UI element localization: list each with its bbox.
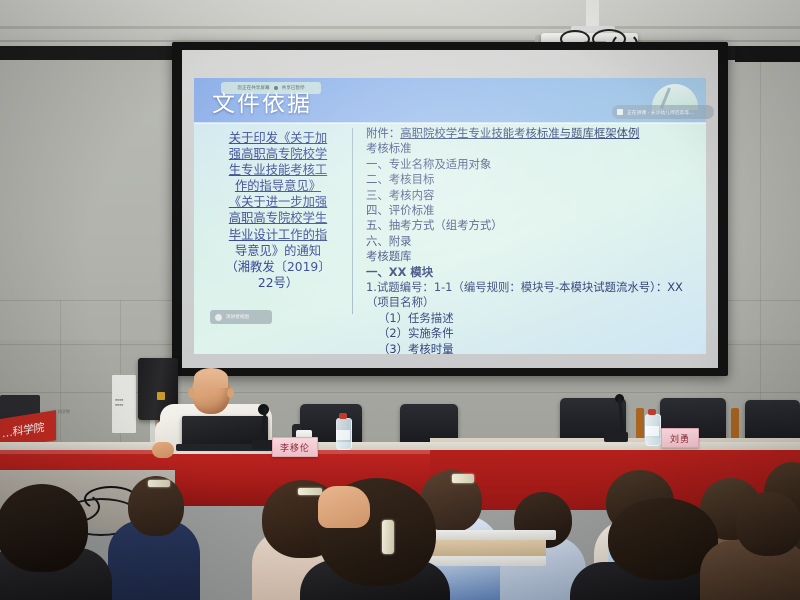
- slide-attachment-line: 附件：高职院校学生专业技能考核标准与题库框架体例: [366, 126, 696, 141]
- slide-left-line: 强高职高专院校学: [210, 146, 346, 162]
- bottle-label: [336, 430, 350, 440]
- slide-right-line: 考核题库: [366, 249, 696, 264]
- audience-head: [0, 484, 88, 572]
- chair-armrest: [636, 408, 644, 442]
- slide-item-line: 1.试题编号：1-1（编号规则：模块号-本模块试题流水号）：XX（项目名称）: [366, 280, 696, 311]
- hair-clip: [382, 520, 394, 554]
- slide-right-line: 六、附录: [366, 234, 696, 249]
- slide-left-line: 导意见》的通知: [210, 243, 346, 259]
- slide-left-line: 22号）: [210, 275, 346, 291]
- slide-left-line: 关于印发《关于加: [210, 130, 346, 146]
- screen-share-status-text: 您正在共享屏幕: [237, 85, 269, 91]
- slide-sub-item: （1）任务描述: [366, 311, 696, 326]
- active-speaker-label: 正在讲课 · 长沙幼儿师范高等…: [627, 109, 694, 116]
- slide-left-column: 关于印发《关于加 强高职高专院校学 生专业技能考核工 作的指导意见》 《关于进一…: [210, 130, 346, 291]
- presenter-view-badge[interactable]: 演讲者视图: [210, 310, 272, 324]
- slide-right-line: 三、考核内容: [366, 188, 696, 203]
- wall-seam: [760, 60, 761, 445]
- microphone-base: [252, 440, 274, 449]
- audience-head: [736, 492, 800, 556]
- attachment-title: 高职院校学生专业技能考核标准与题库框架体例: [400, 126, 639, 140]
- wall-dark-band-right: [735, 46, 800, 62]
- wall-small-label: 科学院: [58, 409, 70, 415]
- conference-room-photo: 文件依据 关于印发《关于加 强高职高专院校学 生专业技能考核工 作的指导意见》 …: [0, 0, 800, 600]
- slide-left-line: 毕业设计工作的指: [210, 227, 346, 243]
- pause-icon: [274, 86, 278, 90]
- presenter-scalp: [194, 368, 228, 388]
- audience-hand: [318, 486, 370, 528]
- name-card-right: 刘勇: [661, 428, 699, 448]
- slide-module-heading: 一、XX 模块: [366, 265, 696, 280]
- slide-column-divider: [352, 128, 353, 314]
- slide-right-column: 附件：高职院校学生专业技能考核标准与题库框架体例 考核标准 一、专业名称及适用对…: [366, 126, 696, 354]
- hair-clip: [148, 480, 170, 487]
- slide-right-line: 二、考核目标: [366, 172, 696, 187]
- slide-left-line: 《关于进一步加强: [210, 194, 346, 210]
- bottle-label: [645, 426, 659, 436]
- bottle-cap: [648, 409, 656, 415]
- user-icon: [215, 314, 222, 321]
- name-card-left: 李移伦: [272, 437, 318, 457]
- wall-control-box-label: ■■■■■■■■: [115, 398, 123, 407]
- hair-clip: [452, 474, 474, 483]
- slide-right-line: 五、抽考方式（组考方式）: [366, 218, 696, 233]
- name-card-right-text: 刘勇: [670, 432, 690, 445]
- slide-left-line: 生专业技能考核工: [210, 162, 346, 178]
- active-speaker-pill[interactable]: 正在讲课 · 长沙幼儿师范高等…: [612, 105, 714, 119]
- name-card-left-text: 李移伦: [280, 441, 310, 454]
- screen-share-status-bar[interactable]: 您正在共享屏幕 共享已暂停: [221, 82, 321, 94]
- slide-right-line: 四、评价标准: [366, 203, 696, 218]
- slide-left-line: （湘教发〔2019〕: [210, 259, 346, 275]
- presenter-hand: [152, 442, 174, 458]
- slide-left-line: 高职高专院校学生: [210, 210, 346, 226]
- chair-armrest: [731, 408, 739, 442]
- slide-right-line: 一、专业名称及适用对象: [366, 157, 696, 172]
- slide-sub-item: （2）实施条件: [366, 326, 696, 341]
- attachment-prefix: 附件：: [366, 126, 400, 140]
- pa-speaker-logo: [157, 392, 165, 400]
- wall-seam: [60, 300, 61, 445]
- presenter-ear: [227, 388, 234, 398]
- bottle-cap: [339, 413, 347, 419]
- speaker-icon: [617, 109, 623, 115]
- slide-sub-item: （3）考核时量: [366, 342, 696, 354]
- presenter-ear: [188, 388, 195, 398]
- ceiling-beam: [0, 26, 800, 29]
- screen-share-secondary-text: 共享已暂停: [282, 85, 305, 91]
- presenter-view-label: 演讲者视图: [226, 314, 249, 320]
- slide-left-line: 作的指导意见》: [210, 178, 346, 194]
- microphone-base: [604, 432, 628, 442]
- slide-right-line: 考核标准: [366, 141, 696, 156]
- hair-clip: [298, 488, 322, 495]
